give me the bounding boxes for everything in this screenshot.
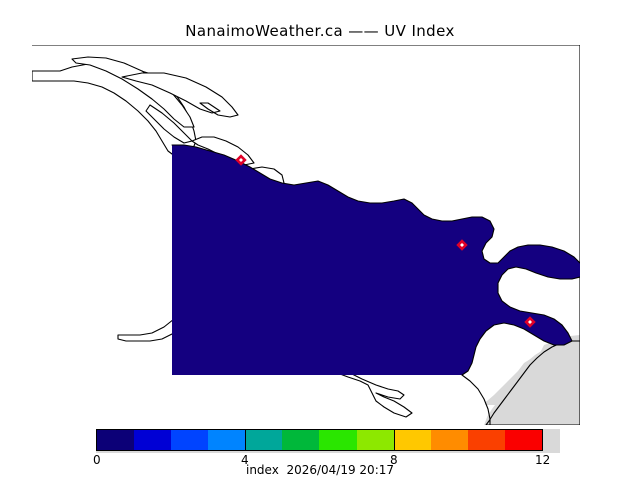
colorbar-segment-11 <box>505 430 542 450</box>
colorbar-segment-6 <box>319 430 356 450</box>
uv-data-region <box>172 145 580 375</box>
colorbar <box>96 429 560 453</box>
colorbar-segment-2 <box>171 430 208 450</box>
colorbar-caption: index 2026/04/19 20:17 <box>0 463 640 477</box>
colorbar-segment-4 <box>245 430 282 450</box>
map-canvas[interactable] <box>32 45 580 425</box>
colorbar-segment-10 <box>468 430 505 450</box>
map-panel[interactable] <box>32 45 580 425</box>
colorbar-segment-1 <box>134 430 171 450</box>
colorbar-segments <box>96 429 543 451</box>
page-title: NanaimoWeather.ca —— UV Index <box>0 22 640 40</box>
screenshot-root: NanaimoWeather.ca —— UV Index <box>0 0 640 480</box>
colorbar-tick-8 <box>394 429 395 451</box>
colorbar-segment-8 <box>394 430 431 450</box>
colorbar-segment-5 <box>282 430 319 450</box>
colorbar-tick-4 <box>245 429 246 451</box>
colorbar-segment-7 <box>357 430 394 450</box>
colorbar-segment-9 <box>431 430 468 450</box>
colorbar-segment-0 <box>97 430 134 450</box>
uv-data-field <box>172 145 580 375</box>
colorbar-segment-3 <box>208 430 245 450</box>
